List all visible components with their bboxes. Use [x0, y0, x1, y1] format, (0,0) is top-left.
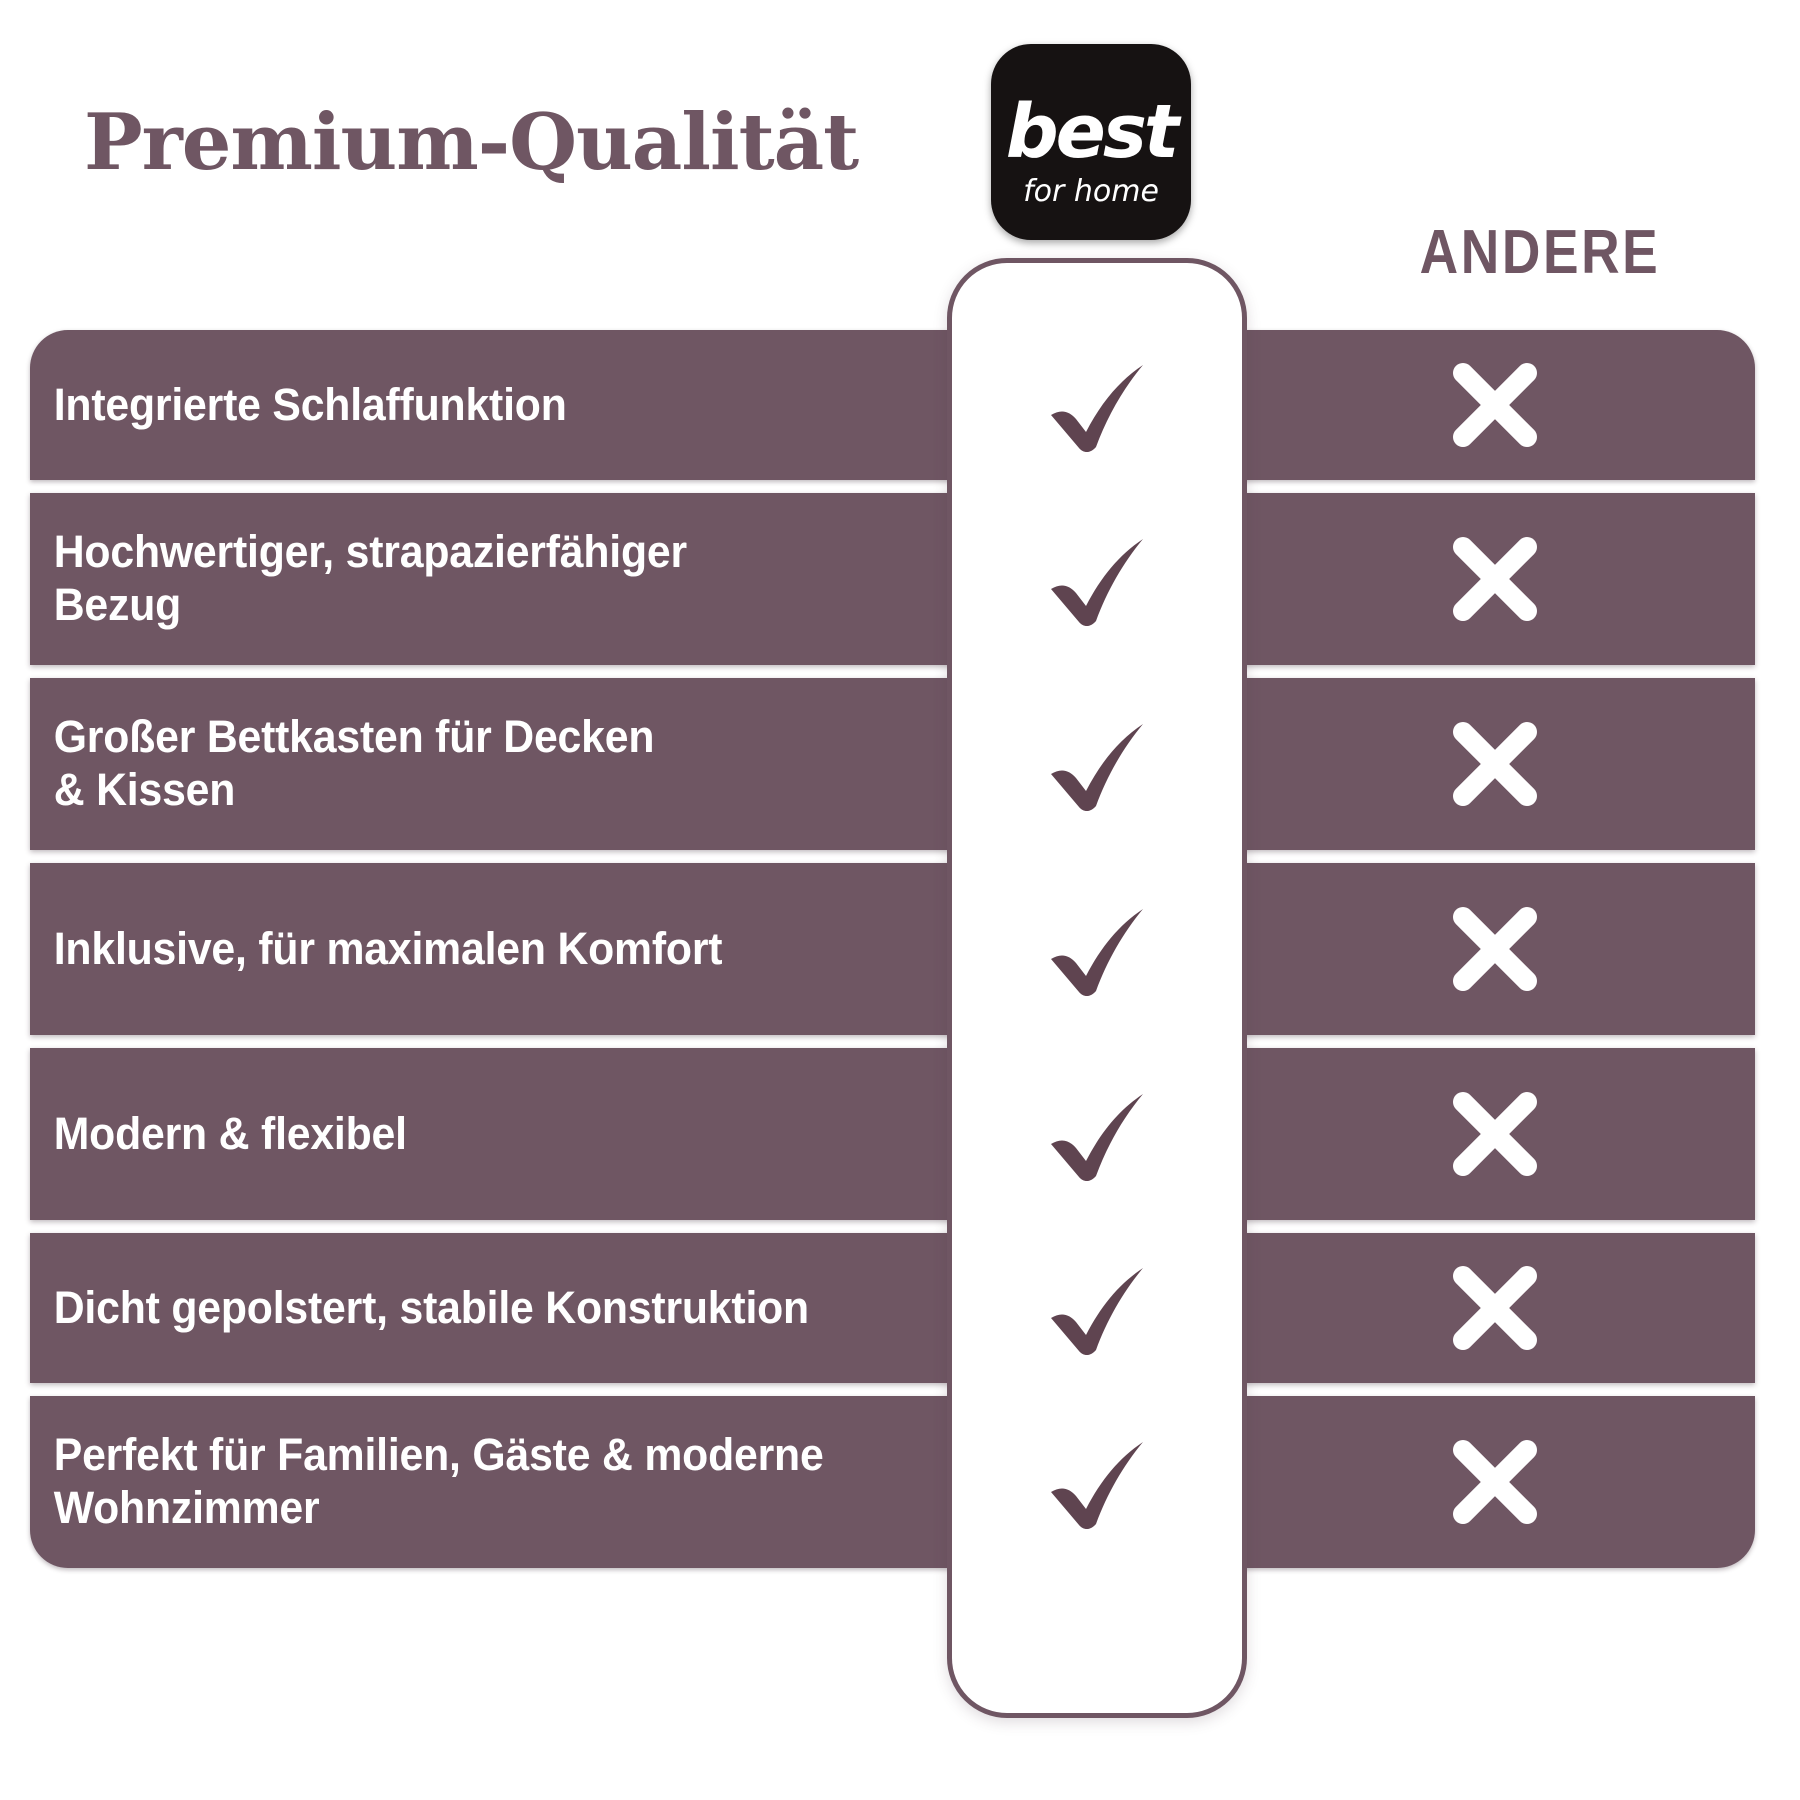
cross-icon: [1443, 1256, 1547, 1360]
row-feature-label: Dicht gepolstert, stabile Konstruktion: [30, 1282, 895, 1335]
cross-icon: [1443, 712, 1547, 816]
brand-name: best: [991, 98, 1191, 166]
row-feature-label: Hochwertiger, strapazierfähigerBezug: [30, 526, 895, 631]
row-feature-label: Modern & flexibel: [30, 1108, 895, 1161]
table-row: Modern & flexibel: [30, 1048, 1755, 1220]
row-feature-label: Perfekt für Familien, Gäste & moderneWoh…: [30, 1429, 895, 1534]
cross-icon: [1443, 353, 1547, 457]
row-cell-other: [1235, 897, 1755, 1001]
table-row: Dicht gepolstert, stabile Konstruktion: [30, 1233, 1755, 1383]
table-row: Großer Bettkasten für Decken& Kissen: [30, 678, 1755, 850]
cross-icon: [1443, 527, 1547, 631]
row-cell-other: [1235, 1082, 1755, 1186]
row-cell-other: [1235, 353, 1755, 457]
comparison-rows: Integrierte SchlaffunktionHochwertiger, …: [30, 330, 1755, 1568]
table-row: Hochwertiger, strapazierfähigerBezug: [30, 493, 1755, 665]
page-title: Premium-Qualität: [84, 104, 858, 182]
table-row: Integrierte Schlaffunktion: [30, 330, 1755, 480]
row-cell-other: [1235, 712, 1755, 816]
cross-icon: [1443, 897, 1547, 1001]
row-cell-other: [1235, 1430, 1755, 1534]
cross-icon: [1443, 1082, 1547, 1186]
row-feature-label: Großer Bettkasten für Decken& Kissen: [30, 711, 895, 816]
row-feature-label: Integrierte Schlaffunktion: [30, 379, 895, 432]
row-feature-label: Inklusive, für maximalen Komfort: [30, 923, 895, 976]
brand-tagline: for home: [991, 174, 1191, 209]
cross-icon: [1443, 1430, 1547, 1534]
brand-badge: best for home: [991, 44, 1191, 240]
column-header-other: ANDERE: [1411, 222, 1669, 284]
row-cell-other: [1235, 1256, 1755, 1360]
table-row: Perfekt für Familien, Gäste & moderneWoh…: [30, 1396, 1755, 1568]
comparison-infographic: Premium-Qualität best for home ANDERE In…: [0, 0, 1800, 1800]
row-cell-other: [1235, 527, 1755, 631]
table-row: Inklusive, für maximalen Komfort: [30, 863, 1755, 1035]
